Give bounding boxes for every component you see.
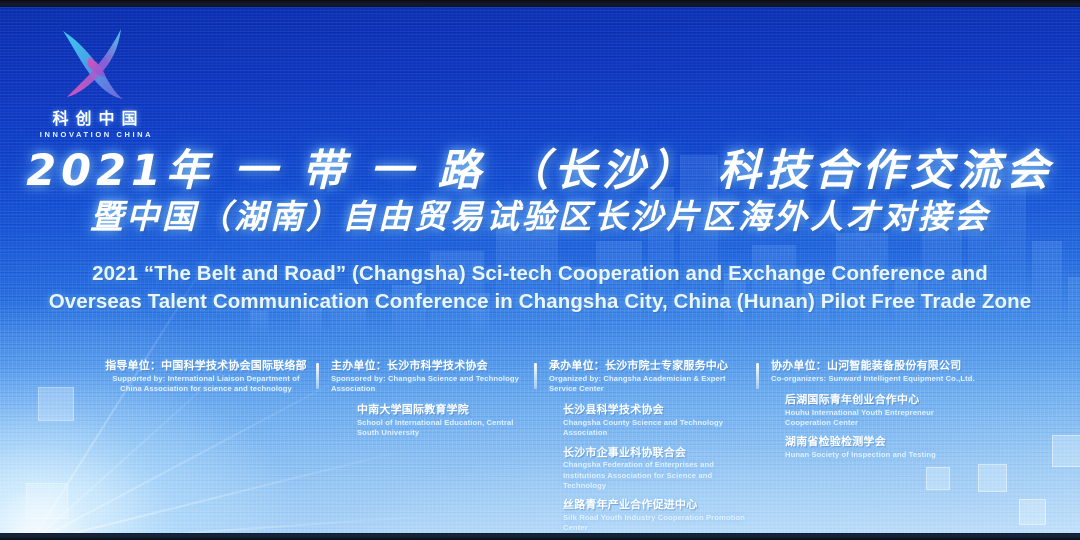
organizer-name-cn: 湖南省检验检测学会	[785, 435, 975, 449]
organizer-name-en: Houhu International Youth Entrepreneur C…	[785, 408, 975, 429]
organizer-entry: 湖南省检验检测学会 Hunan Society of Inspection an…	[785, 435, 975, 460]
organizer-name-en: Sponsored by: Changsha Science and Techn…	[331, 374, 525, 395]
organizer-name-cn: 后湖国际青年创业合作中心	[785, 393, 975, 407]
organizer-name-cn: 长沙市企事业科协联合会	[563, 446, 747, 460]
innovation-china-logo: 科创中国 INNOVATION CHINA	[20, 25, 170, 139]
screen-bezel-top	[0, 0, 1080, 7]
organizer-name-cn: 长沙县科学技术协会	[563, 403, 747, 417]
title-english-line2: Overseas Talent Communication Conference…	[0, 288, 1080, 316]
organizer-name-en: Changsha Federation of Enterprises and I…	[563, 460, 747, 491]
organizer-columns: 指导单位：中国科学技术协会国际联络部 Supported by: Interna…	[0, 359, 1080, 509]
organizer-column-organized-by: 承办单位：长沙市院士专家服务中心 Organized by: Changsha …	[537, 359, 759, 533]
organizer-name-cn: 中南大学国际教育学院	[357, 403, 525, 417]
led-wall-screen: 科创中国 INNOVATION CHINA 2021年 一 带 一 路 （长沙）…	[0, 7, 1080, 533]
organizer-entry: 承办单位：长沙市院士专家服务中心 Organized by: Changsha …	[549, 359, 747, 394]
organizer-name-en: Organized by: Changsha Academician & Exp…	[549, 374, 747, 395]
organizer-entry: 长沙县科学技术协会 Changsha County Science and Te…	[563, 403, 747, 438]
organizer-name-cn: 主办单位：长沙市科学技术协会	[331, 359, 525, 373]
organizer-name-cn: 承办单位：长沙市院士专家服务中心	[549, 359, 747, 373]
organizer-entry: 后湖国际青年创业合作中心 Houhu International Youth E…	[785, 393, 975, 428]
organizer-name-en: School of International Education, Centr…	[357, 418, 525, 439]
organizer-entry: 指导单位：中国科学技术协会国际联络部 Supported by: Interna…	[105, 359, 307, 394]
title-chinese-line2: 暨中国（湖南）自由贸易试验区长沙片区海外人才对接会	[0, 196, 1080, 238]
led-backdrop-screenshot: 科创中国 INNOVATION CHINA 2021年 一 带 一 路 （长沙）…	[0, 0, 1080, 540]
organizer-entry: 中南大学国际教育学院 School of International Educa…	[357, 403, 525, 438]
title-english-line1: 2021 “The Belt and Road” (Changsha) Sci-…	[0, 260, 1080, 288]
organizer-entry: 协办单位：山河智能装备股份有限公司 Co-organizers: Sunward…	[771, 359, 975, 384]
organizer-name-en: Hunan Society of Inspection and Testing	[785, 450, 975, 460]
organizer-entry: 长沙市企事业科协联合会 Changsha Federation of Enter…	[563, 446, 747, 492]
organizer-name-en: Co-organizers: Sunward Intelligent Equip…	[771, 374, 975, 384]
organizer-name-cn: 协办单位：山河智能装备股份有限公司	[771, 359, 975, 373]
organizer-name-cn: 丝路青年产业合作促进中心	[563, 498, 747, 512]
organizer-name-cn: 指导单位：中国科学技术协会国际联络部	[105, 359, 307, 373]
conference-title-english: 2021 “The Belt and Road” (Changsha) Sci-…	[0, 260, 1080, 317]
organizer-column-sponsored-by: 主办单位：长沙市科学技术协会 Sponsored by: Changsha Sc…	[319, 359, 537, 446]
innovation-china-ribbon-mark	[49, 25, 141, 103]
organizer-column-co-organizers: 协办单位：山河智能装备股份有限公司 Co-organizers: Sunward…	[759, 359, 987, 467]
organizer-entry: 主办单位：长沙市科学技术协会 Sponsored by: Changsha Sc…	[331, 359, 525, 394]
organizer-name-en: Supported by: International Liaison Depa…	[105, 374, 307, 395]
organizer-column-supported-by: 指导单位：中国科学技术协会国际联络部 Supported by: Interna…	[93, 359, 319, 403]
conference-title-chinese: 2021年 一 带 一 路 （长沙） 科技合作交流会 暨中国（湖南）自由贸易试验…	[0, 147, 1080, 238]
screen-bezel-bottom	[0, 533, 1080, 540]
organizer-entry: 丝路青年产业合作促进中心 Silk Road Youth Industry Co…	[563, 498, 747, 533]
logo-chinese-text: 科创中国	[20, 105, 170, 129]
logo-english-text: INNOVATION CHINA	[20, 130, 170, 139]
title-chinese-line1: 2021年 一 带 一 路 （长沙） 科技合作交流会	[0, 147, 1080, 195]
organizer-name-en: Silk Road Youth Industry Cooperation Pro…	[563, 513, 747, 533]
organizer-name-en: Changsha County Science and Technology A…	[563, 418, 747, 439]
